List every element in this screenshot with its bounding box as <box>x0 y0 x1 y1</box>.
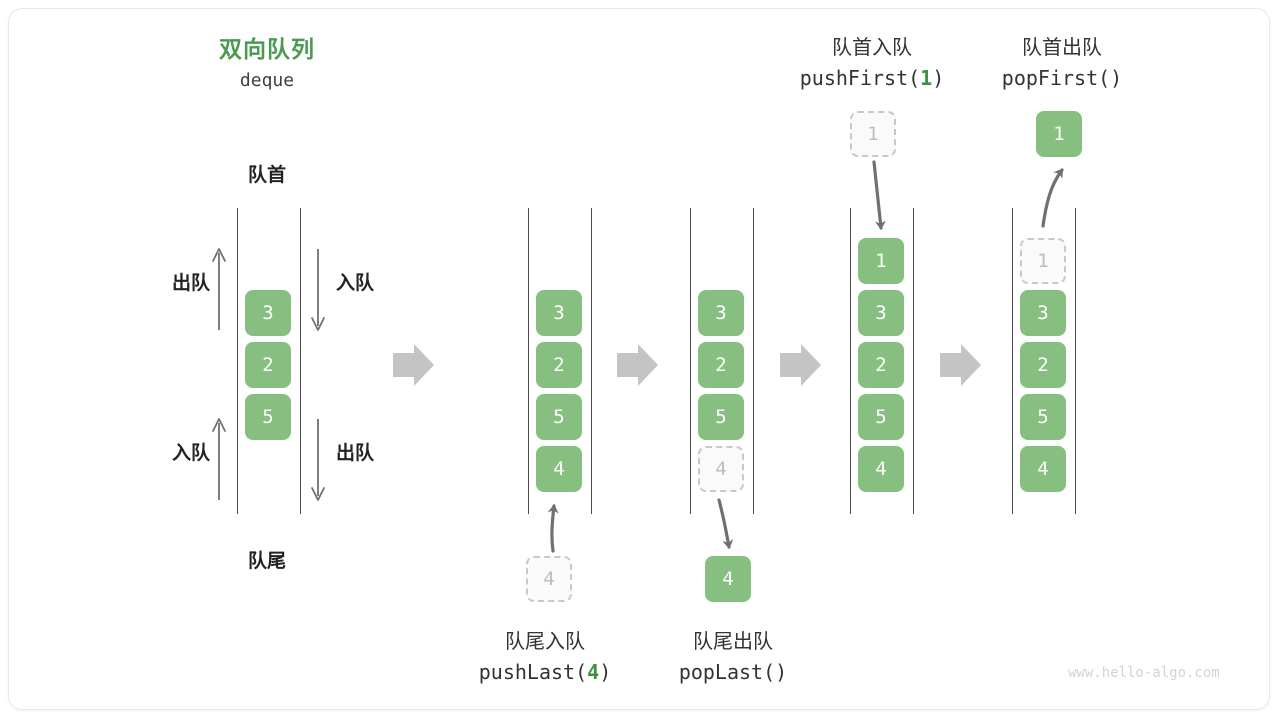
op-push-last-code: pushLast(4) <box>445 660 645 684</box>
direction-arrow-back-enqueue <box>213 419 225 500</box>
op-push-last-fn: pushLast( <box>479 660 587 684</box>
push-first-arrow <box>874 162 881 228</box>
op-pop-first-label: 队首出队 <box>962 31 1162 60</box>
op-push-first-fn-end: ) <box>932 66 944 90</box>
panel-initial-rail-right <box>300 208 301 514</box>
cell-panel-pop-first-outgoing: 1 <box>1036 111 1082 157</box>
direction-arrow-front-enqueue <box>312 249 324 330</box>
cell-panel-initial-2: 5 <box>245 394 291 440</box>
op-pop-first-fn: popFirst( <box>1002 66 1110 90</box>
title-chinese: 双向队列 <box>167 30 367 64</box>
op-push-last-fn-end: ) <box>599 660 611 684</box>
back-end-label: 队尾 <box>197 546 337 573</box>
panel-pop-last-rail-right <box>753 208 754 514</box>
watermark: www.hello-algo.com <box>1068 665 1220 681</box>
push-last-arrow <box>552 506 554 551</box>
deque-diagram-page: 双向队列 deque 队首入队 pushFirst(1) 队首出队 popFir… <box>0 0 1280 720</box>
cell-panel-pop-first-1: 3 <box>1020 290 1066 336</box>
front-end-label: 队首 <box>197 160 337 187</box>
front-enqueue-label: 入队 <box>336 268 406 295</box>
cell-panel-pop-last-1: 2 <box>698 342 744 388</box>
title-english: deque <box>167 70 367 91</box>
op-push-last-label: 队尾入队 <box>445 625 645 654</box>
pop-first-arrow <box>1043 170 1062 226</box>
op-pop-last-label: 队尾出队 <box>633 625 833 654</box>
cell-panel-push-first-1: 3 <box>858 290 904 336</box>
cell-panel-pop-first-0: 1 <box>1020 238 1066 284</box>
cell-panel-pop-last-3: 4 <box>698 446 744 492</box>
cell-panel-push-first-incoming: 1 <box>850 111 896 157</box>
op-push-last-arg: 4 <box>587 660 599 684</box>
op-push-first-label: 队首入队 <box>772 31 972 60</box>
back-dequeue-label: 出队 <box>336 438 406 465</box>
back-enqueue-label: 入队 <box>140 438 210 465</box>
transition-arrow-3 <box>780 344 821 386</box>
cell-panel-push-last-0: 3 <box>536 290 582 336</box>
panel-push-last-rail-left <box>528 208 529 514</box>
op-pop-first-fn-end: ) <box>1110 66 1122 90</box>
arrows-overlay <box>0 0 1280 720</box>
cell-panel-pop-first-2: 2 <box>1020 342 1066 388</box>
cell-panel-pop-last-outgoing: 4 <box>705 556 751 602</box>
panel-pop-first-rail-right <box>1075 208 1076 514</box>
transition-arrow-4 <box>940 344 981 386</box>
panel-initial-rail-left <box>237 208 238 514</box>
transition-arrow-1 <box>393 344 434 386</box>
op-push-first-code: pushFirst(1) <box>772 66 972 90</box>
op-push-first-fn: pushFirst( <box>800 66 920 90</box>
panel-push-first-rail-left <box>850 208 851 514</box>
cell-panel-push-last-1: 2 <box>536 342 582 388</box>
op-pop-last-fn-end: ) <box>775 660 787 684</box>
cell-panel-initial-1: 2 <box>245 342 291 388</box>
cell-panel-pop-last-2: 5 <box>698 394 744 440</box>
diagram-stage: 双向队列 deque 队首入队 pushFirst(1) 队首出队 popFir… <box>0 0 1280 720</box>
cell-panel-push-last-3: 4 <box>536 446 582 492</box>
transition-arrow-2 <box>617 344 658 386</box>
cell-panel-push-first-3: 5 <box>858 394 904 440</box>
front-dequeue-label: 出队 <box>140 268 210 295</box>
cell-panel-pop-first-3: 5 <box>1020 394 1066 440</box>
op-pop-first-code: popFirst() <box>962 66 1162 90</box>
cell-panel-push-last-incoming: 4 <box>526 556 572 602</box>
cell-panel-initial-0: 3 <box>245 290 291 336</box>
cell-panel-pop-last-0: 3 <box>698 290 744 336</box>
panel-push-last-rail-right <box>591 208 592 514</box>
panel-push-first-rail-right <box>913 208 914 514</box>
cell-panel-push-first-0: 1 <box>858 238 904 284</box>
op-pop-last-fn: popLast( <box>679 660 775 684</box>
panel-pop-last-rail-left <box>690 208 691 514</box>
direction-arrow-front-dequeue <box>213 249 225 330</box>
cell-panel-push-first-4: 4 <box>858 446 904 492</box>
direction-arrow-back-dequeue <box>312 419 324 500</box>
cell-panel-push-last-2: 5 <box>536 394 582 440</box>
cell-panel-pop-first-4: 4 <box>1020 446 1066 492</box>
op-push-first-arg: 1 <box>920 66 932 90</box>
op-pop-last-code: popLast() <box>633 660 833 684</box>
pop-last-arrow <box>719 500 729 547</box>
panel-pop-first-rail-left <box>1012 208 1013 514</box>
cell-panel-push-first-2: 2 <box>858 342 904 388</box>
